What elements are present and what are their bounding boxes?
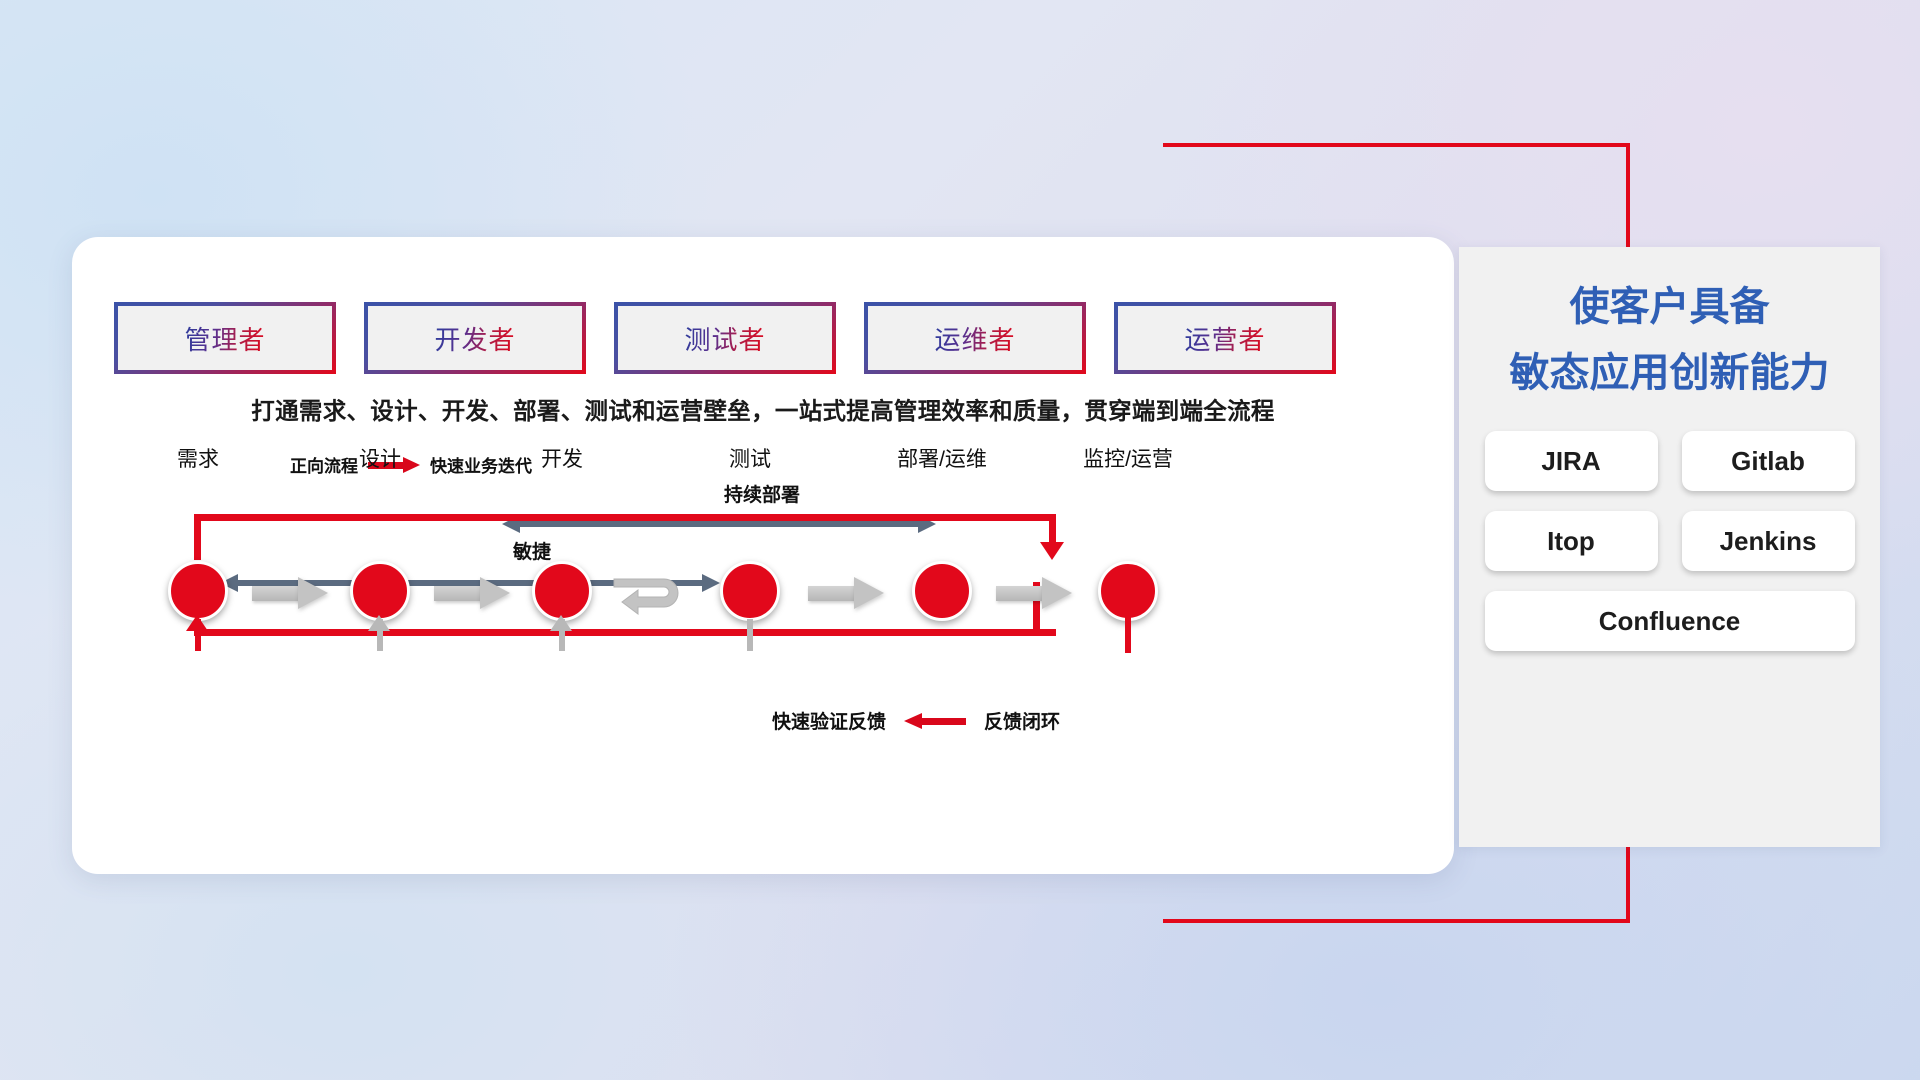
- iteration-loop-arrow-icon: [612, 569, 704, 621]
- tool-chip-itop[interactable]: Itop: [1485, 511, 1658, 571]
- role-box-manager[interactable]: 管理者: [114, 302, 336, 374]
- tool-chip-confluence[interactable]: Confluence: [1485, 591, 1855, 651]
- arrow-shaft: [434, 586, 482, 601]
- tools-title-line-1: 使客户具备: [1459, 277, 1880, 337]
- legend-feedback-loop: 快速验证反馈 反馈闭环: [772, 707, 1060, 734]
- legend-feedback-left-label: 快速验证反馈: [772, 707, 886, 734]
- tool-chip-jenkins[interactable]: Jenkins: [1682, 511, 1855, 571]
- flow-node-label: 测试: [729, 443, 771, 473]
- role-box-tester[interactable]: 测试者: [614, 302, 836, 374]
- role-label: 测试者: [684, 320, 765, 357]
- role-box-developer[interactable]: 开发者: [364, 302, 586, 374]
- arrow-shaft: [996, 586, 1044, 601]
- flow-arrow-3: [808, 577, 884, 609]
- arrow-tip-icon: [854, 577, 884, 609]
- role-box-ops-engineer[interactable]: 运维者: [864, 302, 1086, 374]
- tools-panel: 使客户具备 敏态应用创新能力 JIRA Gitlab Itop Jenkins …: [1459, 247, 1880, 847]
- arrow-tip-icon: [1042, 577, 1072, 609]
- process-flow-row: 需求 设计 开发: [72, 537, 1454, 657]
- arrow-up-grey-icon: [368, 615, 390, 631]
- arrow-tip-icon: [298, 577, 328, 609]
- arrow-up-red-icon: [186, 615, 208, 631]
- tool-chip-label: Gitlab: [1731, 446, 1805, 477]
- tools-title-line-2: 敏态应用创新能力: [1459, 343, 1880, 403]
- legend-feedback-right-label: 反馈闭环: [984, 707, 1060, 734]
- flow-node-dot: [168, 561, 228, 621]
- flow-node-label: 开发: [541, 443, 583, 473]
- flow-arrow-2: [434, 577, 510, 609]
- tool-chip-label: Jenkins: [1720, 526, 1817, 557]
- flow-node-dot: [350, 561, 410, 621]
- flow-node-stem: [1125, 617, 1131, 653]
- arrow-bar: [518, 521, 920, 527]
- arrow-shaft: [252, 586, 300, 601]
- tool-chip-jira[interactable]: JIRA: [1485, 431, 1658, 491]
- legend-forward-left-label: 正向流程: [290, 452, 358, 477]
- legend-forward-flow: 正向流程 快速业务迭代: [290, 452, 532, 477]
- flow-node-dot: [532, 561, 592, 621]
- flow-node-label: 设计: [359, 443, 401, 473]
- arrow-left-red-icon: [904, 713, 966, 729]
- flow-arrow-1: [252, 577, 328, 609]
- arrow-shaft: [808, 586, 856, 601]
- flow-node-label: 需求: [177, 443, 219, 473]
- legend-forward-right-label: 快速业务迭代: [430, 452, 532, 477]
- role-label: 运维者: [934, 320, 1015, 357]
- main-diagram-card: 管理者 开发者 测试者 运维者 运营者 打通需求、设计、开发、部署、测试和运营壁…: [72, 237, 1454, 874]
- tool-chip-label: Confluence: [1599, 606, 1741, 637]
- flow-node-label: 监控/运营: [1083, 443, 1173, 473]
- description-text: 打通需求、设计、开发、部署、测试和运营壁垒，一站式提高管理效率和质量，贯穿端到端…: [72, 392, 1454, 426]
- flow-node-stem: [747, 619, 753, 651]
- tools-grid: JIRA Gitlab Itop Jenkins Confluence: [1485, 431, 1855, 651]
- span-label-continuous-deployment: 持续部署: [632, 480, 892, 507]
- role-label: 管理者: [184, 320, 265, 357]
- tool-chip-label: Itop: [1547, 526, 1595, 557]
- flow-arrow-4: [996, 577, 1072, 609]
- tools-panel-title: 使客户具备 敏态应用创新能力: [1459, 277, 1880, 403]
- flow-node-dot: [912, 561, 972, 621]
- tool-chip-label: JIRA: [1541, 446, 1600, 477]
- roles-row: 管理者 开发者 测试者 运维者 运营者: [114, 302, 1336, 374]
- role-label: 运营者: [1184, 320, 1265, 357]
- arrow-up-grey-icon: [550, 615, 572, 631]
- flow-node-label: 部署/运维: [897, 443, 987, 473]
- arrow-tip-icon: [480, 577, 510, 609]
- red-loop-top-line: [194, 514, 1056, 521]
- flow-node-dot: [720, 561, 780, 621]
- role-box-operator[interactable]: 运营者: [1114, 302, 1336, 374]
- flow-node-dot: [1098, 561, 1158, 621]
- tool-chip-gitlab[interactable]: Gitlab: [1682, 431, 1855, 491]
- role-label: 开发者: [434, 320, 515, 357]
